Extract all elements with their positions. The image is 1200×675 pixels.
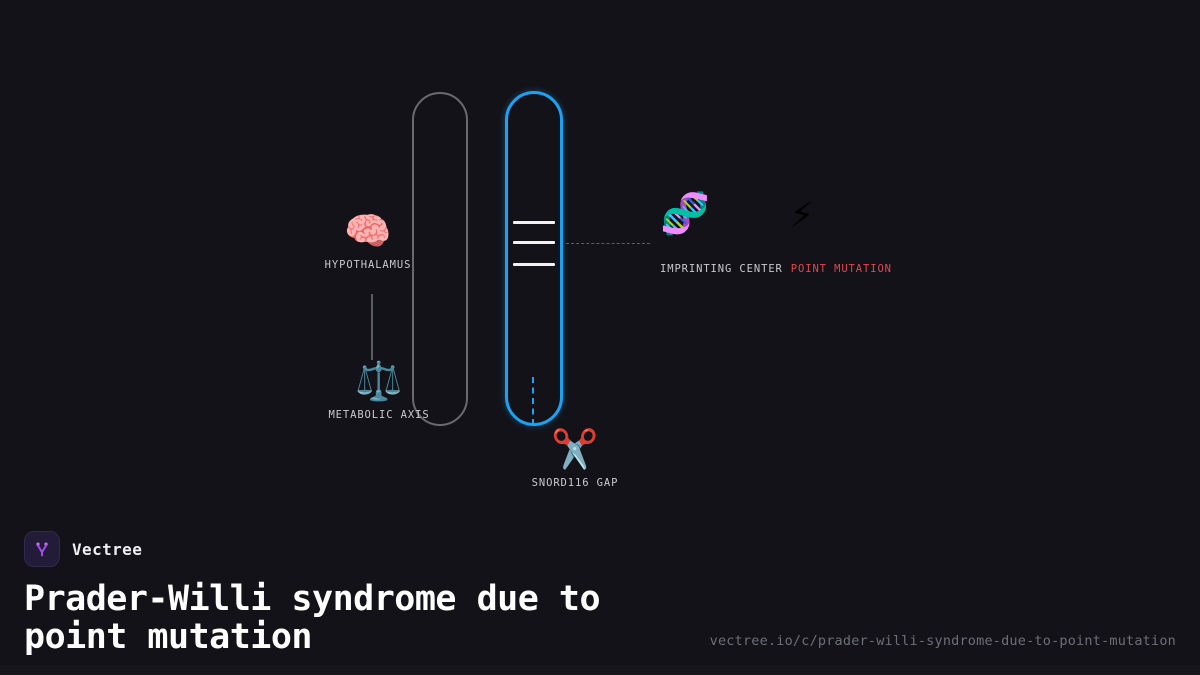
footer: Vectree Prader-Willi syndrome due to poi… [0, 531, 1200, 675]
screenshot-canvas: 🧠 HYPOTHALAMUS ⚖️ METABOLIC AXIS ✂️ SNOR… [0, 0, 1200, 675]
node-imprinting-center-label: IMPRINTING CENTER [660, 263, 783, 275]
balance-scale-icon: ⚖️ [355, 362, 402, 400]
right-node-row: 🧬 ⚡ [660, 194, 814, 234]
connector-hypothalamus-to-metabolic-axis [371, 294, 373, 360]
vectree-logo-icon [24, 531, 60, 567]
right-node-labels: IMPRINTING CENTER POINT MUTATION [660, 263, 892, 275]
node-hypothalamus[interactable]: 🧠 HYPOTHALAMUS [318, 212, 418, 271]
chromosome-band-2 [513, 241, 555, 244]
chromosome-band-3 [513, 263, 555, 266]
brand[interactable]: Vectree [24, 531, 1176, 567]
node-snord116-gap[interactable]: ✂️ SNORD116 GAP [520, 430, 630, 489]
node-metabolic-axis[interactable]: ⚖️ METABOLIC AXIS [322, 362, 436, 421]
deletion-cut-line [532, 377, 534, 425]
page-url: vectree.io/c/prader-willi-syndrome-due-t… [710, 633, 1176, 649]
node-point-mutation-label: POINT MUTATION [791, 263, 892, 275]
connector-chromosome-to-imprinting-center [566, 243, 650, 244]
chromosome-band-1 [513, 221, 555, 224]
page-title: Prader-Willi syndrome due to point mutat… [24, 581, 684, 657]
node-metabolic-axis-label: METABOLIC AXIS [328, 409, 429, 421]
dna-icon[interactable]: 🧬 [660, 194, 710, 234]
scissors-icon: ✂️ [551, 430, 598, 468]
brain-icon: 🧠 [344, 212, 391, 250]
node-hypothalamus-label: HYPOTHALAMUS [325, 259, 412, 271]
affected-chromosome-capsule[interactable] [505, 91, 563, 426]
node-snord116-gap-label: SNORD116 GAP [532, 477, 619, 489]
brand-name: Vectree [72, 540, 142, 559]
lightning-bolt-icon[interactable]: ⚡ [790, 194, 814, 234]
